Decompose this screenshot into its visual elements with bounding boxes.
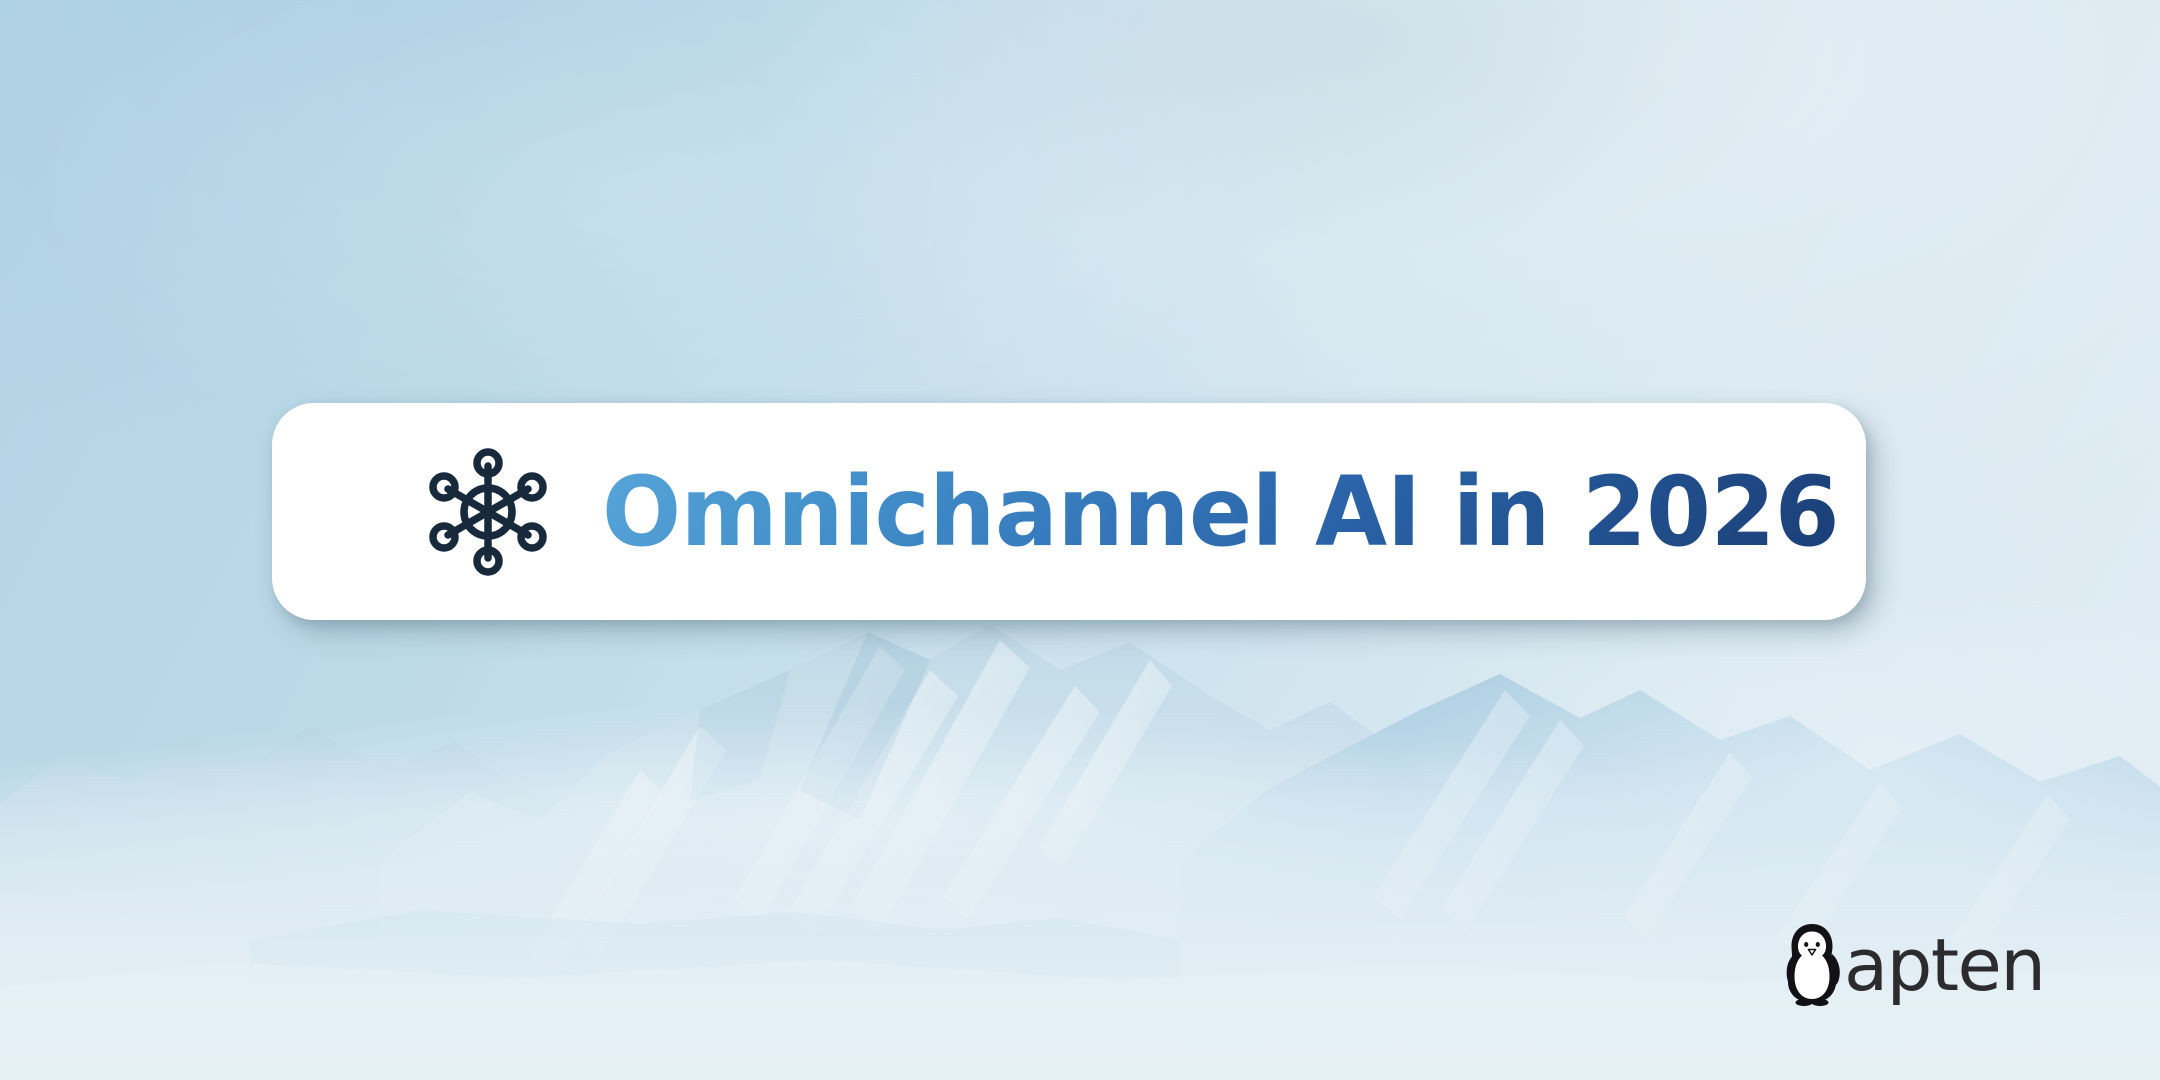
- omnichannel-hub-icon: [422, 446, 554, 578]
- apten-logo[interactable]: apten: [1782, 922, 2044, 1008]
- page-title: Omnichannel AI in 2026: [602, 464, 1839, 560]
- title-card: Omnichannel AI in 2026: [272, 403, 1866, 620]
- slide-canvas: Omnichannel AI in 2026 apten: [0, 0, 2160, 1080]
- penguin-icon: [1782, 922, 1844, 1008]
- fog-band-low: [0, 750, 2160, 1080]
- apten-wordmark: apten: [1844, 929, 2044, 1001]
